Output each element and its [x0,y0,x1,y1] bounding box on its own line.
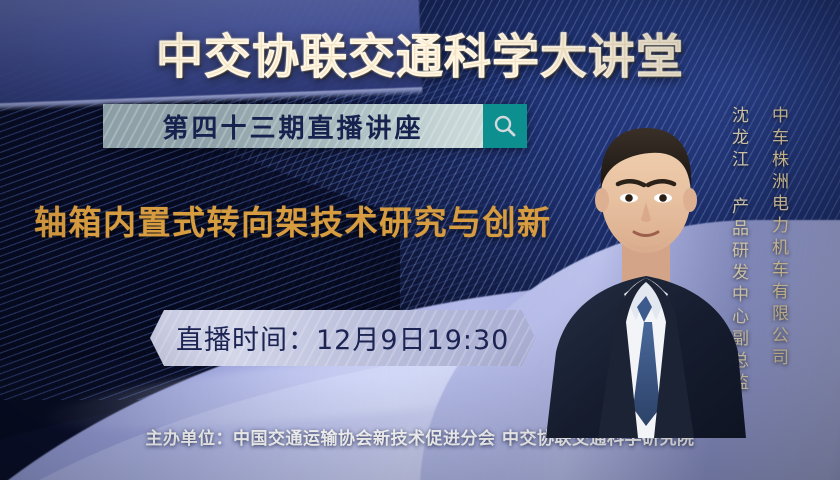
lecture-topic: 轴箱内置式转向架技术研究与创新 [34,196,552,244]
speaker-portrait [540,108,752,438]
livestream-poster: 中交协联交通科学大讲堂 第四十三期直播讲座 轴箱内置式转向架技术研究与创新 直播… [0,0,840,480]
episode-banner-bar: 第四十三期直播讲座 [103,104,483,148]
speaker-portrait-illustration [540,108,752,438]
speaker-organization: 中车株洲电力机车有限公司 [766,106,791,370]
episode-banner: 第四十三期直播讲座 [103,104,527,148]
broadcast-time-label: 直播时间：12月9日19:30 [176,325,509,356]
episode-label: 第四十三期直播讲座 [162,108,423,145]
search-icon-container[interactable] [483,104,527,148]
search-icon [492,113,518,139]
page-title: 中交协联交通科学大讲堂 [0,18,840,87]
broadcast-time-badge: 直播时间：12月9日19:30 [150,310,535,366]
